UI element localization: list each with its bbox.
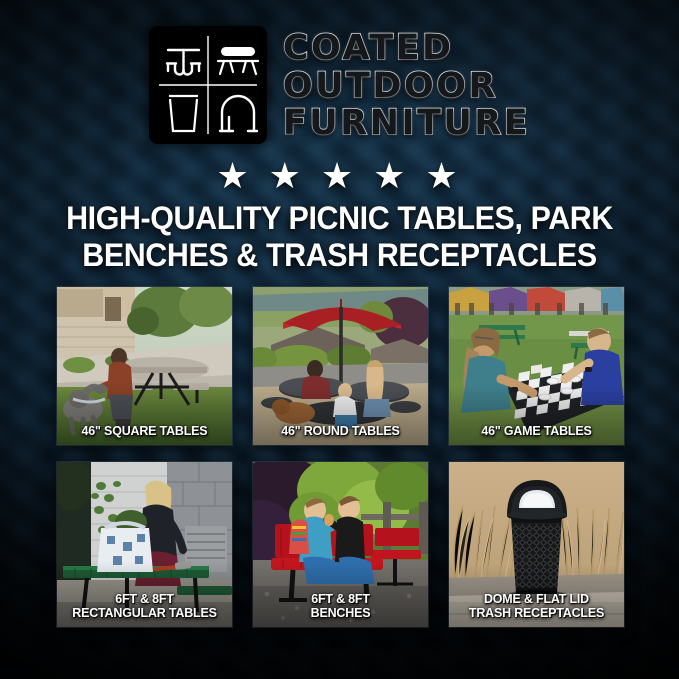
headline-line-1: HIGH-QUALITY PICNIC TABLES, PARK	[66, 200, 613, 236]
wordmark-line-outdoor: OUTDOOR	[283, 68, 530, 105]
tile-caption-line-1: 46" ROUND TABLES	[259, 424, 421, 439]
product-tile-rectangular-tables[interactable]: 6FT & 8FT RECTANGULAR TABLES	[57, 462, 232, 627]
tile-caption-line-1: 46" GAME TABLES	[455, 424, 617, 439]
tile-caption: 46" ROUND TABLES	[259, 424, 421, 439]
brand-logo: COATED OUTDOOR FURNITURE	[0, 26, 679, 144]
product-tile-trash-receptacles[interactable]: DOME & FLAT LID TRASH RECEPTACLES	[449, 462, 624, 627]
headline-line-2: BENCHES & TRASH RECEPTACLES	[44, 237, 636, 274]
tile-caption-line-1: 6FT & 8FT	[259, 592, 421, 607]
wordmark-line-coated: COATED	[283, 30, 530, 67]
tile-caption: 46" GAME TABLES	[455, 424, 617, 439]
game-tables-photo	[449, 287, 624, 445]
tile-caption-line-1: 46" SQUARE TABLES	[63, 424, 225, 439]
headline: HIGH-QUALITY PICNIC TABLES, PARK BENCHES…	[44, 200, 636, 274]
product-tile-grid: 46" SQUARE TABLES	[57, 287, 623, 627]
tile-caption-line-1: DOME & FLAT LID	[455, 592, 617, 607]
tile-caption: DOME & FLAT LID TRASH RECEPTACLES	[455, 592, 617, 621]
tile-caption-line-2: BENCHES	[259, 606, 421, 621]
product-tile-game-tables[interactable]: 46" GAME TABLES	[449, 287, 624, 445]
tile-caption: 6FT & 8FT RECTANGULAR TABLES	[63, 592, 225, 621]
product-tile-benches[interactable]: 6FT & 8FT BENCHES	[253, 462, 428, 627]
product-tile-round-tables[interactable]: 46" ROUND TABLES	[253, 287, 428, 445]
advertisement-banner: COATED OUTDOOR FURNITURE ★ ★ ★ ★ ★ HIGH-…	[0, 0, 679, 679]
tile-caption-line-2: RECTANGULAR TABLES	[63, 606, 225, 621]
tile-caption: 6FT & 8FT BENCHES	[259, 592, 421, 621]
tile-caption: 46" SQUARE TABLES	[63, 424, 225, 439]
round-tables-photo	[253, 287, 428, 445]
coated-outdoor-furniture-logo-icon	[149, 26, 267, 144]
brand-wordmark: COATED OUTDOOR FURNITURE	[283, 28, 530, 142]
square-tables-photo	[57, 287, 232, 445]
product-tile-square-tables[interactable]: 46" SQUARE TABLES	[57, 287, 232, 445]
tile-caption-line-2: TRASH RECEPTACLES	[455, 606, 617, 621]
star-rating: ★ ★ ★ ★ ★	[0, 158, 679, 194]
wordmark-line-furniture: FURNITURE	[283, 105, 530, 142]
tile-caption-line-1: 6FT & 8FT	[63, 592, 225, 607]
